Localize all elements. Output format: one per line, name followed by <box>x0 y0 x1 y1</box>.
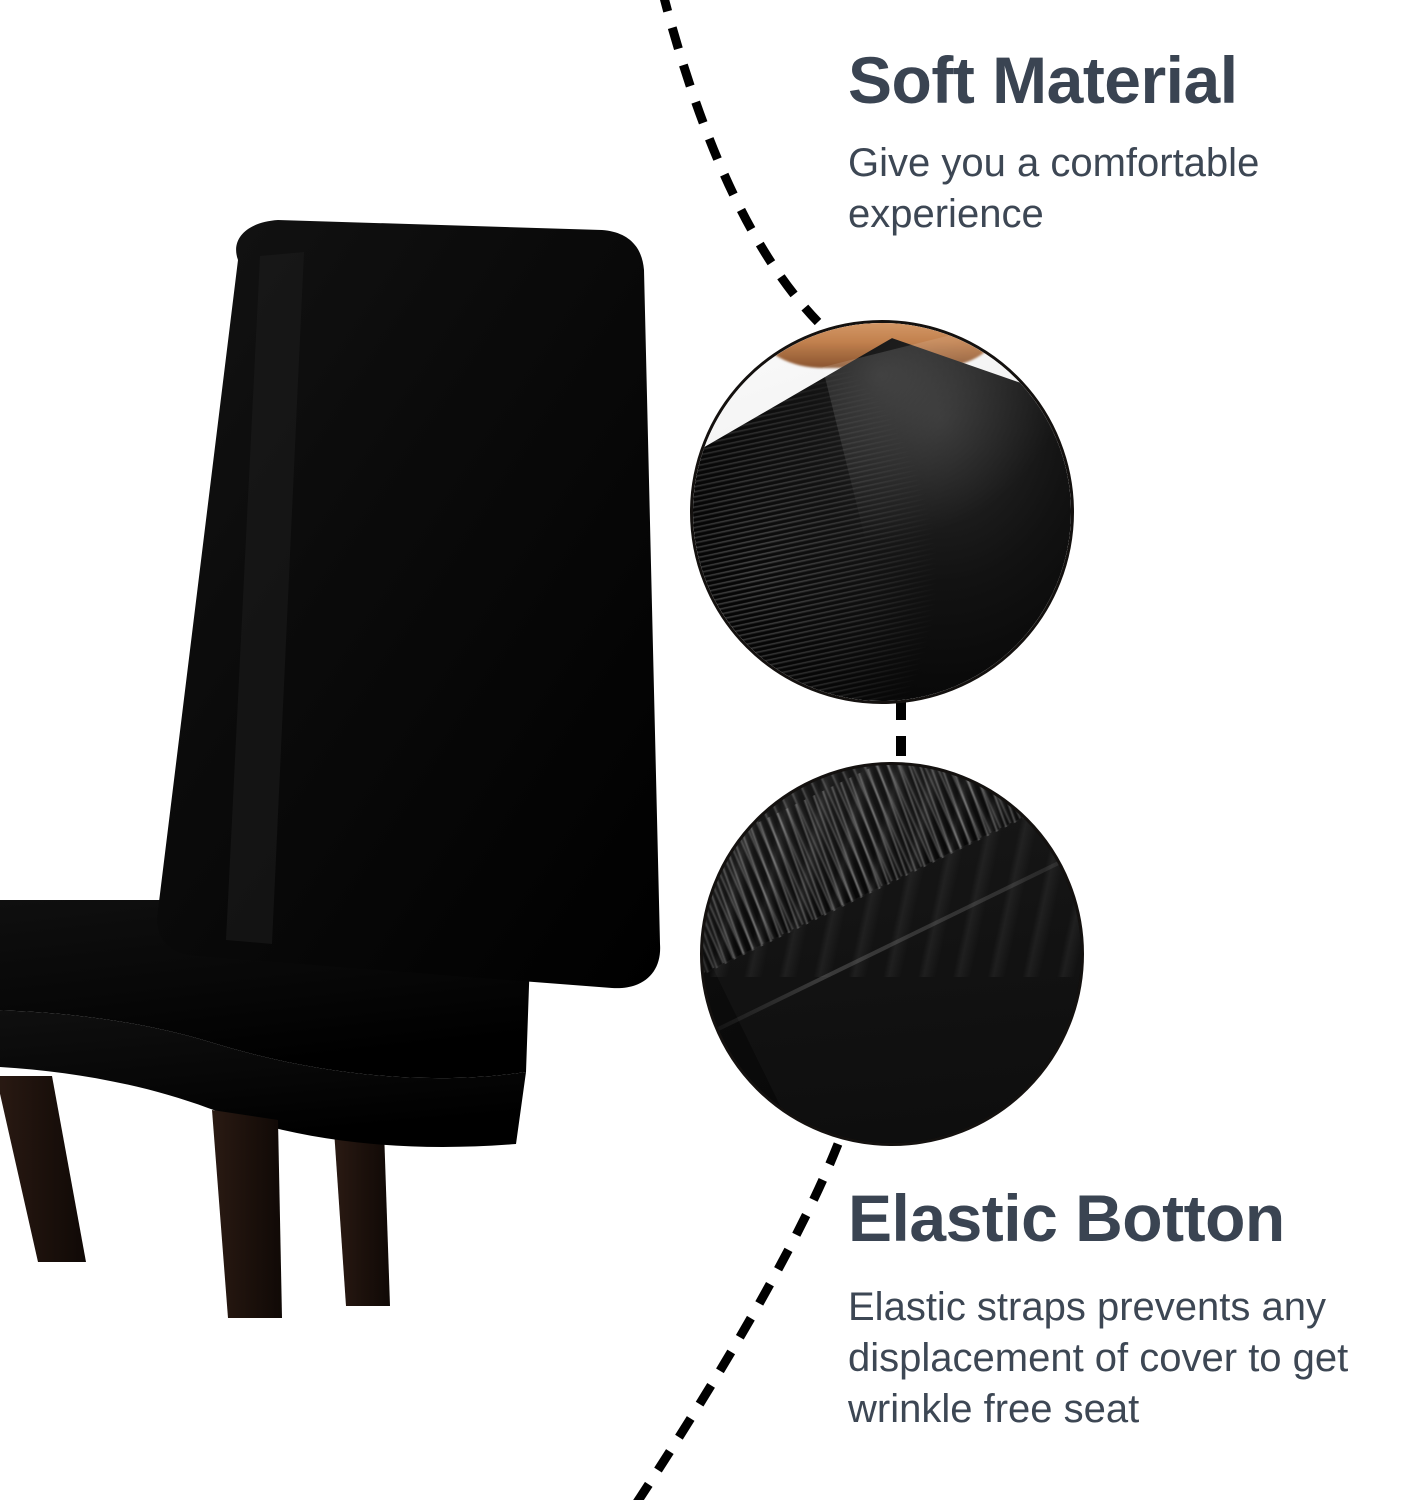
feature-body-soft-material: Give you a comfortable experience <box>848 138 1408 240</box>
chair-leg-rear-left <box>0 1076 86 1262</box>
feature-heading-soft-material: Soft Material <box>848 46 1408 116</box>
feature-body-elastic-bottom: Elastic straps prevents any displacement… <box>848 1282 1418 1436</box>
callout-circle-soft-material <box>690 320 1074 704</box>
feature-text-soft-material: Soft Material Give you a comfortable exp… <box>848 46 1408 240</box>
infographic-canvas: Soft Material Give you a comfortable exp… <box>0 0 1427 1500</box>
callout-circle-elastic-bottom <box>700 762 1084 1146</box>
feature-text-elastic-bottom: Elastic Botton Elastic straps prevents a… <box>848 1184 1418 1436</box>
chair-leg-rear-right <box>334 1130 390 1306</box>
feature-heading-elastic-bottom: Elastic Botton <box>848 1184 1418 1254</box>
fabric-closeup-image <box>693 323 1071 701</box>
product-chair-image <box>0 200 680 1320</box>
elastic-closeup-image <box>703 765 1081 1143</box>
chair-leg-front-right <box>212 1110 282 1318</box>
